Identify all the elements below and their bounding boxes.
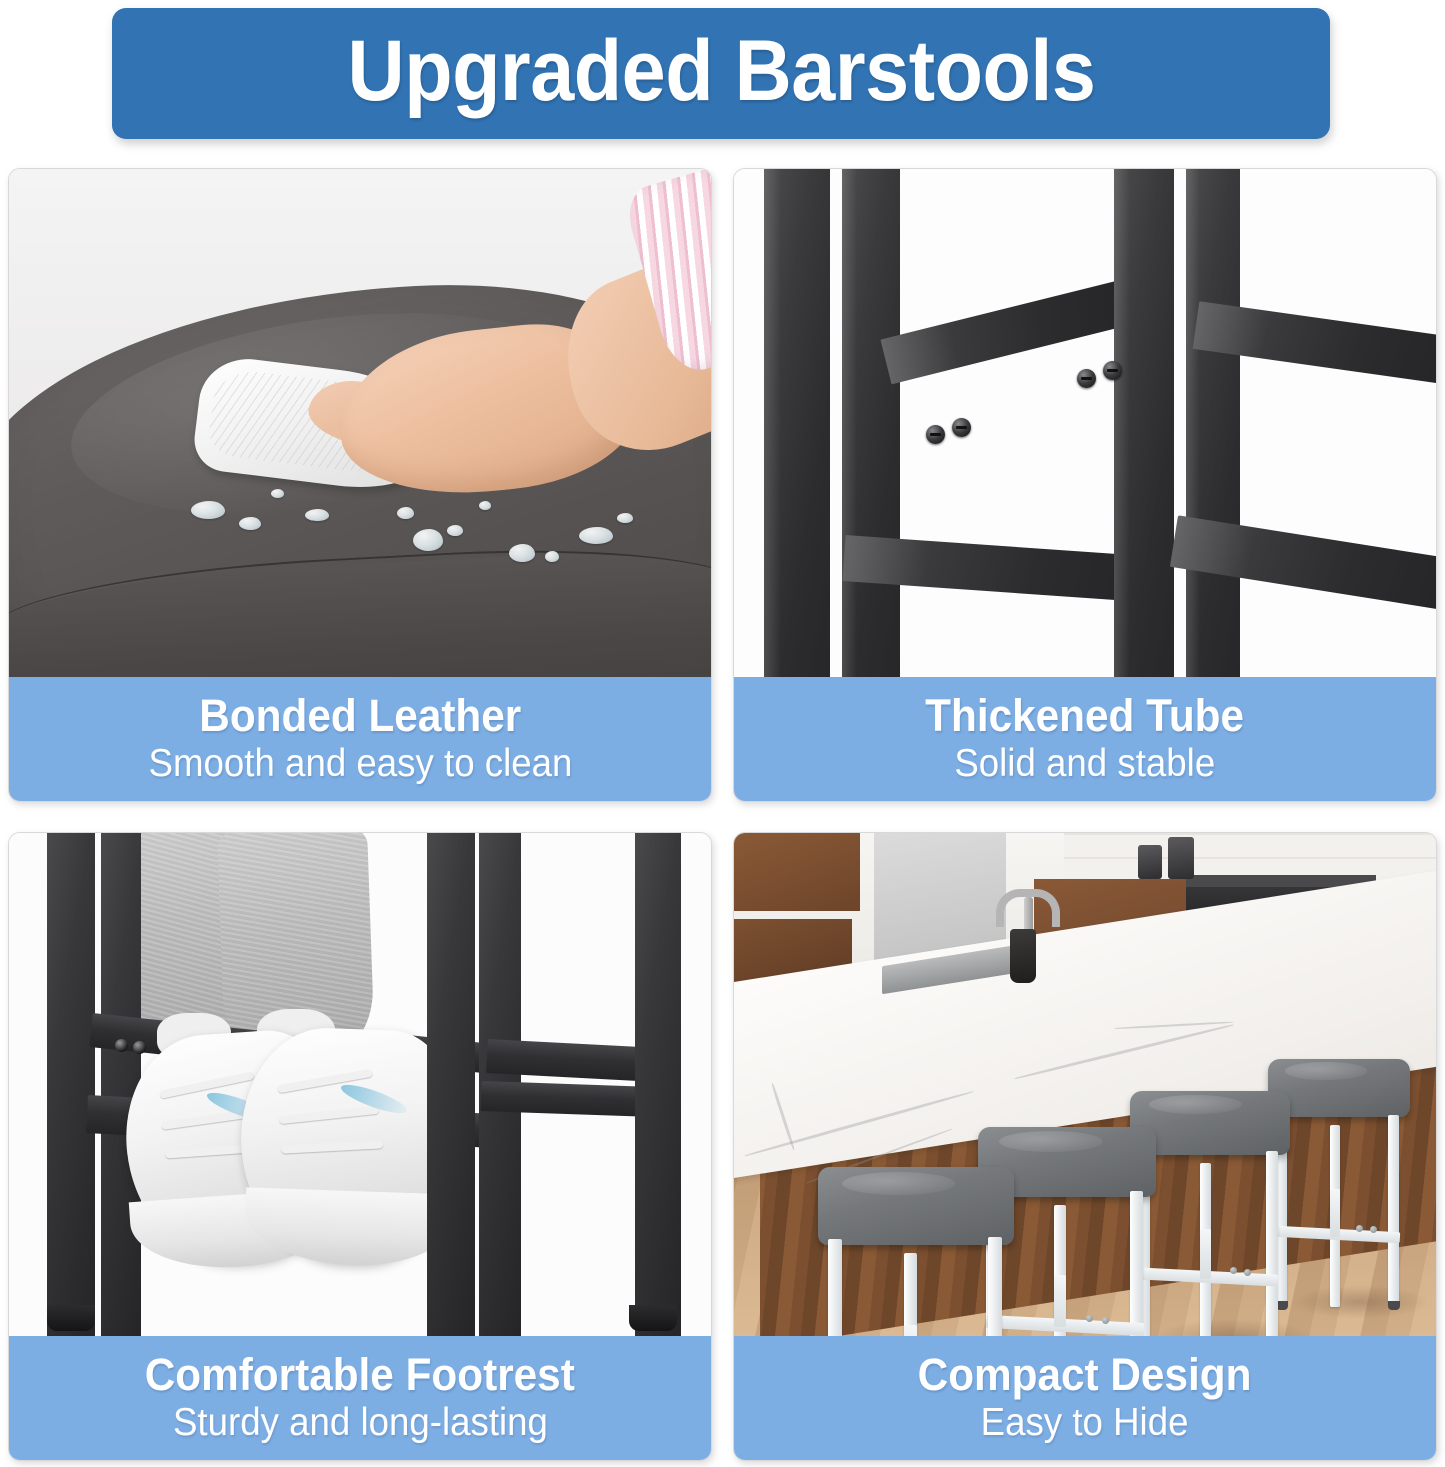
- bolt-icon: [1356, 1225, 1363, 1232]
- bolt-icon: [1103, 361, 1122, 380]
- barstool-brace: [1330, 1189, 1340, 1237]
- water-droplet: [447, 525, 463, 536]
- thickened-tube-photo: [734, 169, 1436, 677]
- barstool-leg: [828, 1239, 842, 1336]
- water-droplet: [545, 551, 559, 562]
- bolt-icon: [1102, 1317, 1109, 1324]
- stool-leg: [427, 833, 475, 1336]
- feature-panel-compact-design: Compact Design Easy to Hide: [733, 832, 1437, 1461]
- barstool-leg: [904, 1253, 917, 1336]
- water-droplet: [479, 501, 491, 510]
- water-droplet: [579, 527, 613, 544]
- counter-canister: [1168, 837, 1194, 879]
- leather-scene: [9, 169, 711, 677]
- comfortable-footrest-photo: [9, 833, 711, 1336]
- frame-post: [1114, 169, 1174, 677]
- water-droplet: [509, 544, 535, 562]
- water-droplet: [413, 529, 443, 551]
- floor-protector-foot: [47, 1305, 95, 1331]
- bonded-leather-photo: [9, 169, 711, 677]
- caption-thickened-tube: Thickened Tube Solid and stable: [734, 677, 1436, 801]
- tube-scene: [734, 169, 1436, 677]
- bolt-icon: [1086, 1315, 1093, 1322]
- feature-panel-thickened-tube: Thickened Tube Solid and stable: [733, 168, 1437, 802]
- bolt-icon: [1370, 1226, 1377, 1233]
- barstool-brace: [904, 1325, 917, 1336]
- water-droplet: [191, 501, 225, 519]
- barstool-leg: [1388, 1115, 1399, 1303]
- stool-leg: [47, 833, 95, 1336]
- caption-subtitle: Easy to Hide: [981, 1402, 1189, 1444]
- compact-design-photo: [734, 833, 1436, 1336]
- barstool-brace: [1200, 1229, 1211, 1279]
- caption-compact-design: Compact Design Easy to Hide: [734, 1336, 1436, 1460]
- water-droplet: [271, 489, 284, 498]
- caption-bonded-leather: Bonded Leather Smooth and easy to clean: [9, 677, 711, 801]
- stool-leg: [101, 833, 141, 1336]
- caption-subtitle: Solid and stable: [955, 743, 1216, 785]
- barstool-leg: [1130, 1191, 1143, 1336]
- bolt-icon: [1244, 1269, 1251, 1276]
- page-title: Upgraded Barstools: [347, 28, 1095, 114]
- kitchen-cabinet: [734, 833, 860, 911]
- frame-post: [1186, 169, 1240, 677]
- caption-title: Thickened Tube: [926, 693, 1245, 739]
- caption-title: Comfortable Footrest: [145, 1352, 575, 1398]
- barstool-brace: [1054, 1275, 1066, 1327]
- barstool-floor-tip: [1388, 1301, 1400, 1310]
- caption-comfortable-footrest: Comfortable Footrest Sturdy and long-las…: [9, 1336, 711, 1460]
- counter-vase: [1010, 929, 1036, 983]
- stool-shadow: [1290, 1285, 1430, 1319]
- frame-post: [842, 169, 900, 677]
- kitchen-scene: [734, 833, 1436, 1336]
- counter-canister: [1138, 845, 1162, 879]
- barstool-seat: [818, 1167, 1014, 1245]
- caption-title: Bonded Leather: [199, 693, 521, 739]
- water-droplet: [239, 517, 261, 530]
- caption-subtitle: Sturdy and long-lasting: [172, 1402, 547, 1444]
- barstool-leg: [988, 1237, 1002, 1336]
- feature-panel-comfortable-footrest: Comfortable Footrest Sturdy and long-las…: [8, 832, 712, 1461]
- bolt-icon: [1230, 1267, 1237, 1274]
- barstool-leg: [1266, 1151, 1278, 1336]
- bolt-icon: [952, 418, 971, 437]
- bolt-icon: [1077, 369, 1096, 388]
- marble-vein: [1014, 1023, 1233, 1080]
- footrest-scene: [9, 833, 711, 1336]
- floor-protector-foot: [629, 1305, 677, 1331]
- frame-post: [764, 169, 830, 677]
- bolt-icon: [133, 1041, 146, 1054]
- water-droplet: [397, 507, 414, 519]
- feature-panel-bonded-leather: Bonded Leather Smooth and easy to clean: [8, 168, 712, 802]
- stool-leg: [635, 833, 681, 1336]
- water-droplet: [617, 513, 633, 523]
- caption-title: Compact Design: [918, 1352, 1252, 1398]
- bolt-icon: [115, 1039, 128, 1052]
- caption-subtitle: Smooth and easy to clean: [148, 743, 572, 785]
- water-droplet: [305, 509, 329, 521]
- bolt-icon: [926, 425, 945, 444]
- page-header-banner: Upgraded Barstools: [112, 8, 1330, 139]
- feature-panel-grid: Bonded Leather Smooth and easy to clean: [0, 160, 1445, 1467]
